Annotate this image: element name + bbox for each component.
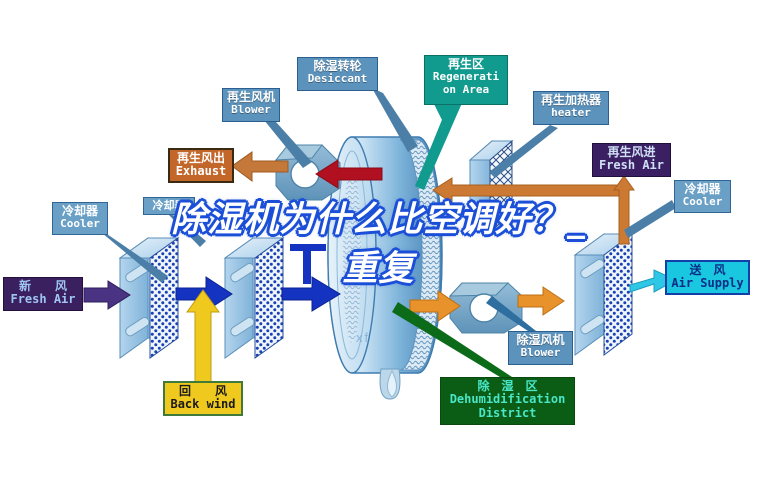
label-dehum-blower: 除湿风机Blower xyxy=(508,331,573,365)
schematic-svg xyxy=(0,0,757,488)
label-en-text: Exhaust xyxy=(173,165,229,178)
label-cn-text: 除湿转轮 xyxy=(301,60,374,73)
label-cn-text: 冷却器 xyxy=(147,200,191,212)
condensate-drain xyxy=(380,369,400,399)
diagram-canvas: xf 除湿转轮Desiccant再生风机Blower再生风出Exhaust冷却器… xyxy=(0,0,757,488)
label-fresh-air-right: 再生风进Fresh Air xyxy=(592,143,671,177)
label-cn-text: 除 湿 区 xyxy=(444,380,571,393)
label-regen-blower: 再生风机Blower xyxy=(222,88,280,122)
label-cooler-mid: 冷却器 xyxy=(143,197,195,215)
label-cn-text: 再生区 xyxy=(428,58,504,71)
label-en-text: Air Supply xyxy=(670,277,745,290)
label-cn-text: 再生加热器 xyxy=(537,94,605,107)
label-en-text: Fresh Air xyxy=(596,159,667,172)
label-back-wind: 回 风Back wind xyxy=(163,381,243,416)
label-en-text: Blower xyxy=(512,347,569,359)
label-cn-text: 除湿风机 xyxy=(512,334,569,347)
label-en-text: Blower xyxy=(226,104,276,116)
dehumidification-blower xyxy=(450,283,522,333)
label-cooler-left: 冷却器Cooler xyxy=(52,202,108,235)
label-cn-text: 送 风 xyxy=(670,264,745,277)
label-cn-text: 冷却器 xyxy=(678,183,727,196)
label-en-text: Regenerati on Area xyxy=(428,71,504,96)
label-en-text: Desiccant xyxy=(301,73,374,85)
label-cn-text: 回 风 xyxy=(168,385,238,398)
label-air-supply: 送 风Air Supply xyxy=(665,260,750,295)
dry-air-arrow-2 xyxy=(518,287,564,315)
label-cn-text: 冷却器 xyxy=(56,205,104,218)
label-cn-text: 新 风 xyxy=(7,280,79,293)
label-cooler-right: 冷却器Cooler xyxy=(674,180,731,213)
label-cn-text: 再生风机 xyxy=(226,91,276,104)
label-cn-text: 再生风出 xyxy=(173,152,229,165)
label-en-text: Cooler xyxy=(678,196,727,208)
label-desiccant-wheel: 除湿转轮Desiccant xyxy=(297,57,378,91)
regen-inlet-arrow xyxy=(433,178,620,203)
label-dehum-district: 除 湿 区Dehumidification District xyxy=(440,377,575,425)
cooler-unit-2 xyxy=(225,238,283,358)
label-en-text: Cooler xyxy=(56,218,104,230)
label-en-text: Fresh Air xyxy=(7,293,79,306)
cooler-unit-3 xyxy=(575,234,632,355)
label-en-text: Dehumidification District xyxy=(444,393,571,420)
label-en-text: Back wind xyxy=(168,398,238,411)
label-regen-heater: 再生加热器heater xyxy=(533,91,609,125)
label-fresh-air-left: 新 风Fresh Air xyxy=(3,277,83,311)
cooler-unit-1 xyxy=(120,238,178,358)
label-cn-text: 再生风进 xyxy=(596,146,667,159)
watermark: xf xyxy=(356,330,370,345)
label-regen-area: 再生区Regenerati on Area xyxy=(424,55,508,105)
return-duct-arrow xyxy=(290,244,326,284)
label-exhaust: 再生风出Exhaust xyxy=(168,148,234,183)
label-en-text: heater xyxy=(537,107,605,119)
